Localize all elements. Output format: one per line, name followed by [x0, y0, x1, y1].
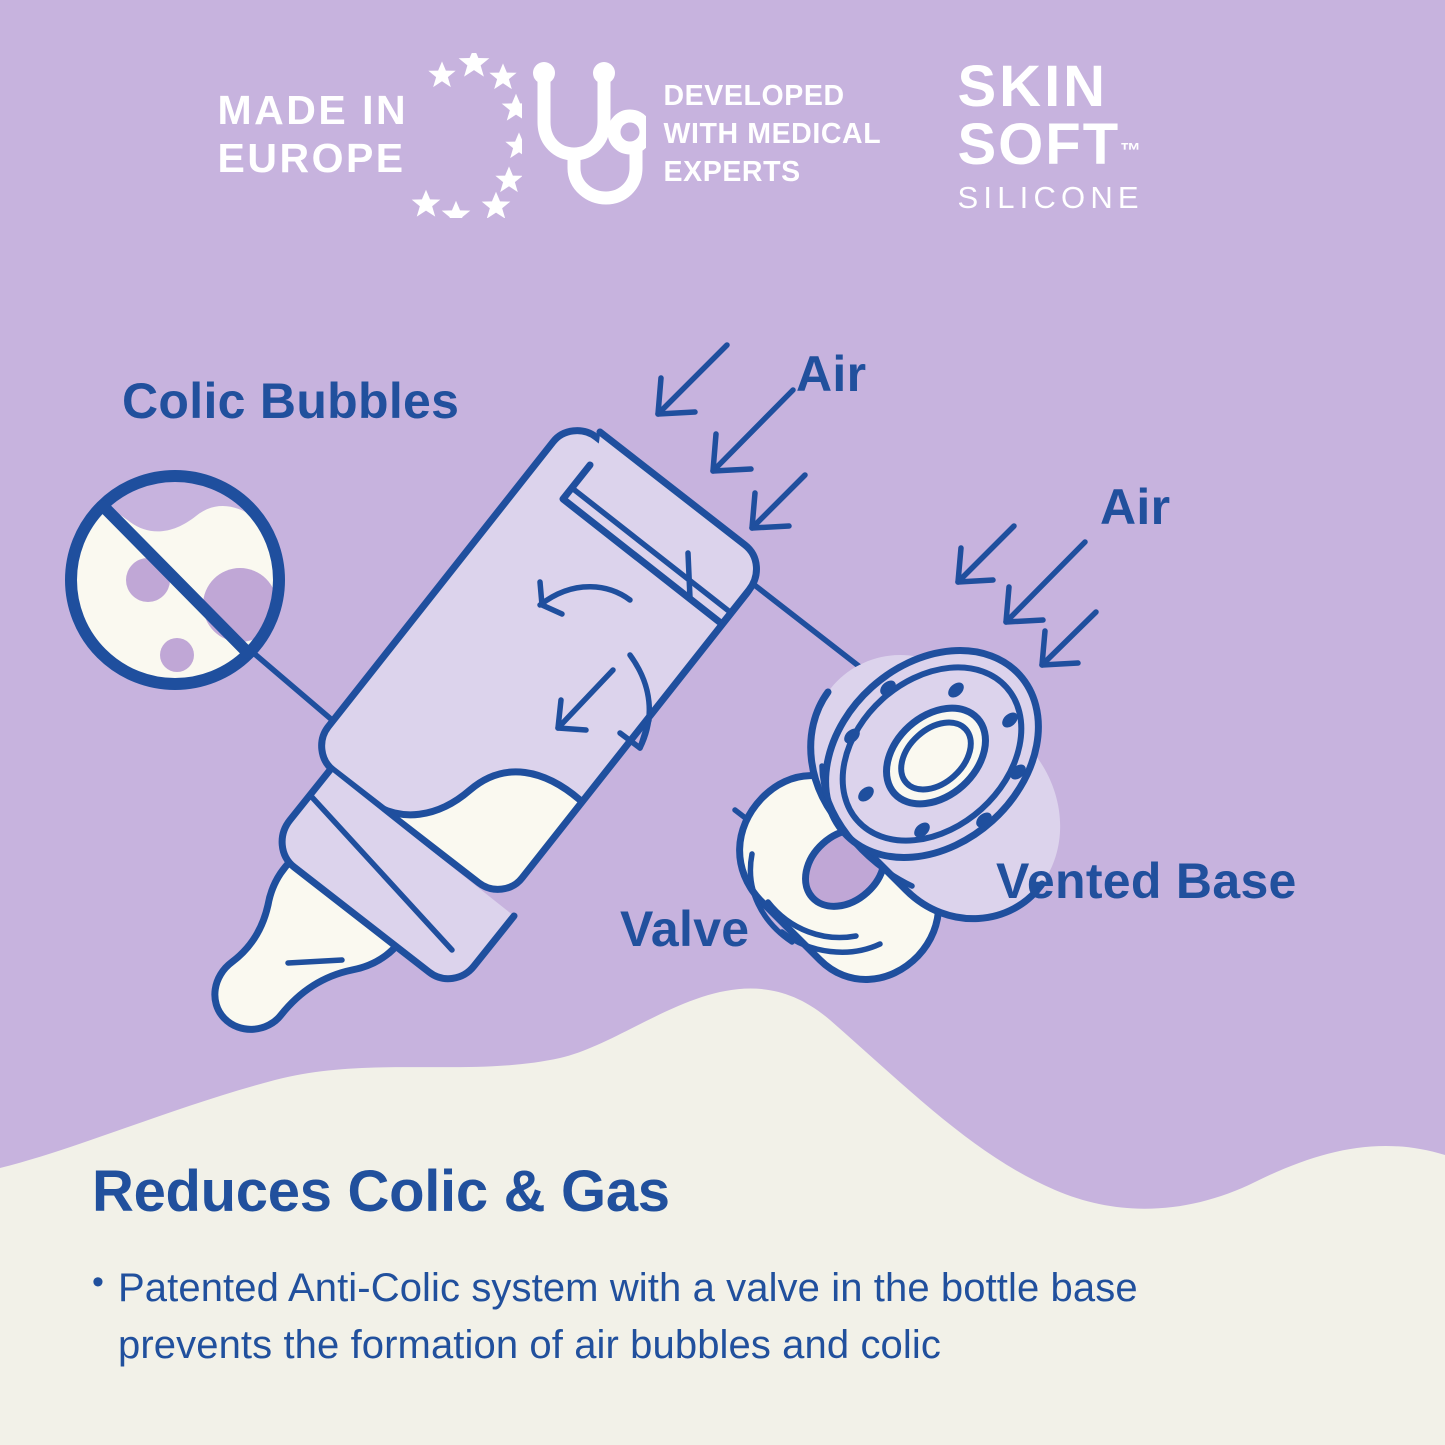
badge-made-in-europe-label: MADE IN EUROPE	[218, 87, 409, 183]
label-air-right: Air	[1100, 478, 1170, 536]
badge-developed-label: DEVELOPED WITH MEDICAL EXPERTS	[664, 78, 882, 192]
air-arrow-icon	[958, 526, 1096, 665]
bullet-item: • Patented Anti-Colic system with a valv…	[92, 1260, 1353, 1374]
skin-soft-line3: SILICONE	[958, 182, 1144, 213]
skin-soft-line2: SOFT	[958, 116, 1121, 174]
headline: Reduces Colic & Gas	[92, 1160, 1353, 1224]
stethoscope-icon	[528, 60, 646, 210]
no-colic-bubbles-icon	[64, 476, 300, 700]
label-air-top: Air	[796, 345, 866, 403]
trust-badge-row: MADE IN EUROPE	[0, 0, 1445, 270]
bottom-copy-block: Reduces Colic & Gas • Patented Anti-Coli…	[0, 1160, 1445, 1373]
badge-skin-soft-silicone: SKIN SOFT™ SILICONE	[948, 58, 1248, 213]
skin-soft-line1: SKIN	[958, 58, 1144, 116]
trademark-symbol: ™	[1120, 139, 1142, 162]
label-vented-base: Vented Base	[996, 852, 1297, 910]
bullet-text: Patented Anti-Colic system with a valve …	[118, 1260, 1278, 1374]
label-colic-bubbles: Colic Bubbles	[122, 372, 459, 430]
badge-developed-with-medical-experts: DEVELOPED WITH MEDICAL EXPERTS	[528, 60, 948, 210]
bullet-marker: •	[92, 1260, 104, 1304]
promo-graphic: MADE IN EUROPE	[0, 0, 1445, 1445]
eu-stars-icon	[406, 53, 522, 218]
badge-made-in-europe: MADE IN EUROPE	[198, 53, 528, 218]
label-valve: Valve	[620, 900, 749, 958]
